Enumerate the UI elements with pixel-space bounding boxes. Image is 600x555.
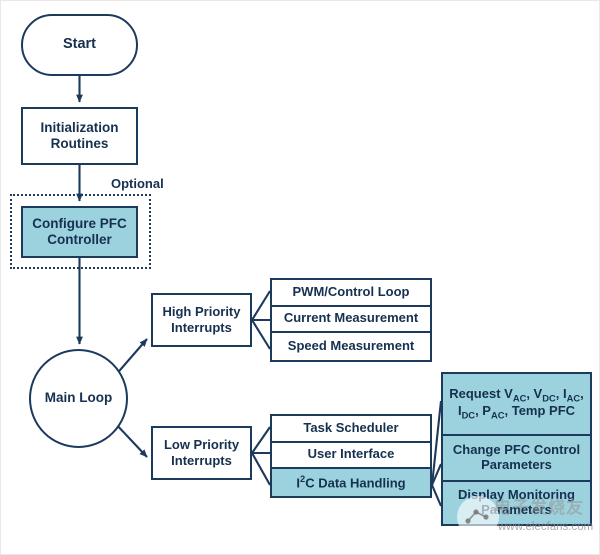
task-row-i2c-data-handling: I2C Data Handling [272, 469, 430, 496]
task-row: Task Scheduler [272, 416, 430, 443]
high-priority-task-list: PWM/Control Loop Current Measurement Spe… [270, 278, 432, 362]
node-configure-pfc-controller: Configure PFC Controller [21, 206, 138, 258]
i2c-superscript: 2 [300, 474, 305, 484]
i2c-request-line1: Request VAC, VDC, [449, 386, 563, 401]
task-row: Current Measurement [272, 307, 430, 334]
i2c-action-change-pfc-parameters: Change PFC Control Parameters [443, 436, 590, 482]
node-high-priority-label-line1: High Priority [162, 304, 240, 320]
i2c-action-display-monitoring-parameters: Display Monitoring Parameters [443, 482, 590, 524]
node-low-priority-interrupts: Low Priority Interrupts [151, 426, 252, 480]
i2c-action-list: Request VAC, VDC, IAC, IDC, PAC, Temp PF… [441, 372, 592, 526]
node-high-priority-interrupts: High Priority Interrupts [151, 293, 252, 347]
task-row: User Interface [272, 443, 430, 470]
optional-group-label: Optional [111, 176, 164, 191]
task-row: Speed Measurement [272, 333, 430, 360]
node-main-loop: Main Loop [29, 349, 128, 448]
node-low-priority-label-line2: Interrupts [164, 453, 239, 469]
node-initialization-routines: Initialization Routines [21, 107, 138, 165]
node-configure-pfc-label-line1: Configure PFC [32, 216, 127, 232]
node-start: Start [21, 14, 138, 76]
i2c-action-request-measurements: Request VAC, VDC, IAC, IDC, PAC, Temp PF… [443, 374, 590, 436]
node-initialization-label-line2: Routines [40, 136, 118, 152]
i2c-change-line1: Change PFC [453, 442, 530, 457]
flowchart-canvas: Start Initialization Routines Optional C… [0, 0, 600, 555]
i2c-request-line3: Temp PFC [512, 403, 575, 418]
i2c-display-line2: Parameters [481, 502, 552, 517]
node-high-priority-label-line2: Interrupts [162, 320, 240, 336]
node-main-loop-label: Main Loop [45, 390, 113, 406]
node-start-label: Start [63, 36, 96, 53]
node-low-priority-label-line1: Low Priority [164, 437, 239, 453]
node-initialization-label-line1: Initialization [40, 120, 118, 136]
low-priority-task-list: Task Scheduler User Interface I2C Data H… [270, 414, 432, 498]
i2c-display-line1: Display Monitoring [458, 487, 575, 502]
task-row: PWM/Control Loop [272, 280, 430, 307]
node-configure-pfc-label-line2: Controller [32, 232, 127, 248]
